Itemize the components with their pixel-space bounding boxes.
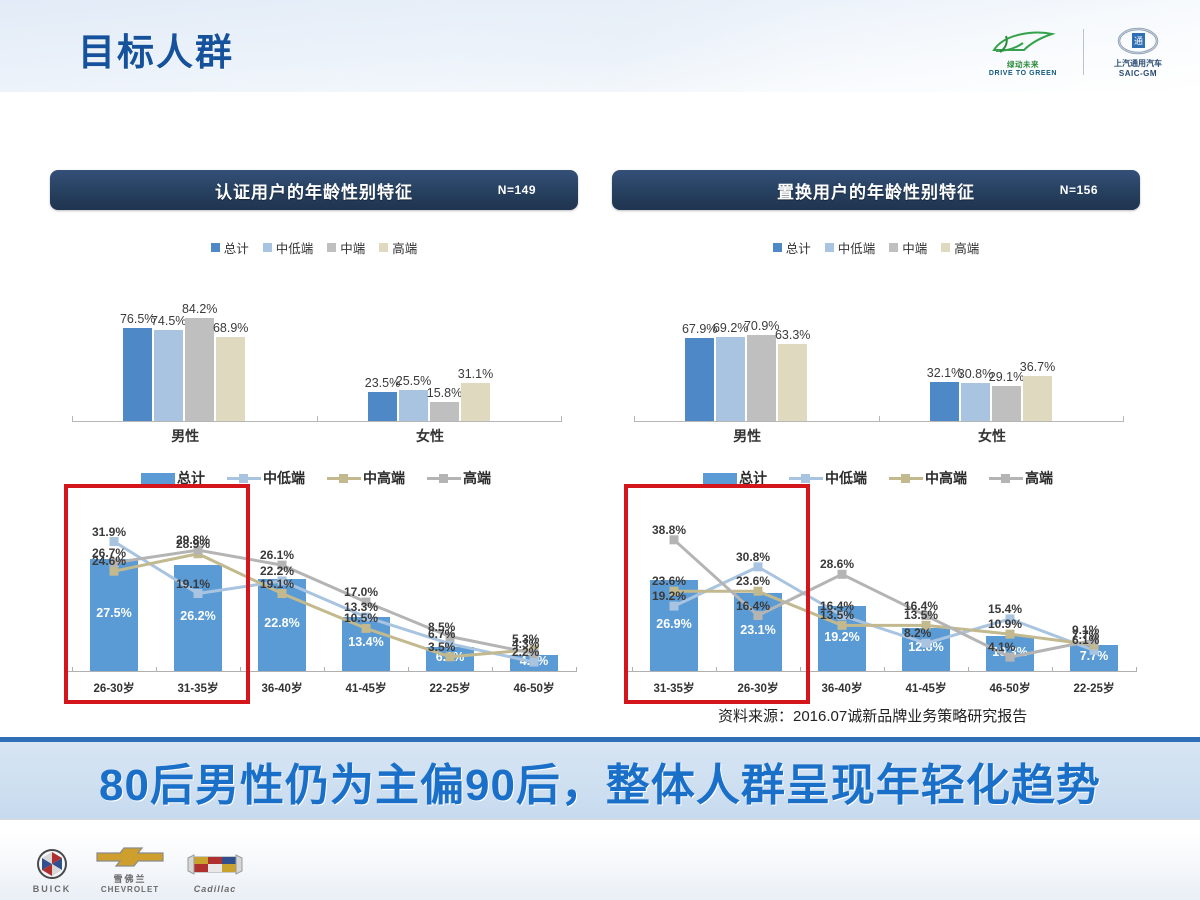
legend-label-mid: 中端 (340, 238, 365, 257)
svg-text:通: 通 (1134, 36, 1143, 47)
bar: 74.5% (154, 330, 183, 421)
legend-label-mid: 中端 (902, 238, 927, 257)
chart-trade-age: 26.9%31-35岁23.1%26-30岁19.2%36-40岁12.8%41… (620, 482, 1140, 702)
legend-swatch-total (773, 243, 782, 252)
legend-label-high: 高端 (392, 238, 417, 257)
slide-footer: BUICK 雪佛兰 CHEVROLET (0, 832, 1200, 900)
category-label: 男性 (103, 426, 267, 446)
legend-item-mid: 中端 (889, 238, 927, 257)
bar-value-label: 36.7% (1020, 360, 1055, 374)
chevrolet-cn: 雪佛兰 (113, 872, 146, 885)
chart-cert-gender: 76.5%74.5%84.2%68.9%男性23.5%25.5%15.8%31.… (62, 262, 572, 448)
line-value-label: 10.9% (988, 617, 1022, 631)
bar: 67.9% (685, 338, 714, 421)
source-note: 资料来源：2016.07诚新品牌业务策略研究报告 (718, 705, 1027, 726)
legend-swatch-midlow (825, 243, 834, 252)
panel-header-left: 认证用户的年龄性别特征 N=149 (50, 170, 578, 210)
line-value-label: 26.1% (260, 548, 294, 562)
buick-logo: BUICK (28, 848, 76, 894)
line-value-label: 3.5% (428, 640, 455, 654)
cadillac-wordmark: Cadillac (194, 884, 237, 894)
line-value-label: 17.0% (344, 585, 378, 599)
bar-group: 67.9%69.2%70.9%63.3% (685, 265, 809, 421)
drive-to-green-en: DRIVE TO GREEN (989, 70, 1057, 77)
slide-root: 目标人群 绿动未来 DRIVE TO GREEN 通 上 (0, 0, 1200, 900)
legend-item-mid: 中端 (327, 238, 365, 257)
drive-to-green-cn: 绿动未来 (1007, 59, 1039, 70)
green-leaf-car-icon (990, 28, 1056, 58)
legend-swatch-mid (327, 243, 336, 252)
line-value-label: 15.4% (988, 602, 1022, 616)
legend-item-total: 总计 (211, 238, 249, 257)
bar-value-label: 15.8% (427, 386, 462, 400)
chart-cert-age: 27.5%26-30岁26.2%31-35岁22.8%36-40岁13.4%41… (60, 482, 580, 702)
chart-trade-gender: 67.9%69.2%70.9%63.3%男性32.1%30.8%29.1%36.… (624, 262, 1134, 448)
footer-brand-logos: BUICK 雪佛兰 CHEVROLET (28, 844, 246, 894)
panel-left-n: N=149 (498, 183, 536, 197)
legend-label-total: 总计 (224, 238, 249, 257)
line-value-label: 4.1% (988, 640, 1015, 654)
highlight-box (624, 484, 810, 704)
line-value-label: 9.1% (1072, 623, 1099, 637)
chevrolet-bowtie-icon (94, 844, 166, 870)
bar: 76.5% (123, 328, 152, 421)
panel-header-right: 置换用户的年龄性别特征 N=156 (612, 170, 1140, 210)
legend-label-total: 总计 (786, 238, 811, 257)
bar-value-label: 63.3% (775, 328, 810, 342)
buick-shield-icon (28, 848, 76, 882)
bar: 29.1% (992, 386, 1021, 422)
bar: 69.2% (716, 337, 745, 421)
bar-group: 32.1%30.8%29.1%36.7% (930, 265, 1054, 421)
bar-group: 23.5%25.5%15.8%31.1% (368, 265, 492, 421)
legend-trade-gender: 总计 中低端 中端 高端 (612, 238, 1140, 257)
header-logos: 绿动未来 DRIVE TO GREEN 通 上汽通用汽车 SAIC-GM (977, 26, 1178, 78)
bar: 63.3% (778, 344, 807, 421)
panel-right-title: 置换用户的年龄性别特征 (777, 178, 975, 203)
chevrolet-en: CHEVROLET (101, 885, 159, 894)
legend-label-midlow: 中低端 (276, 238, 314, 257)
category-label: 女性 (910, 426, 1074, 446)
legend-item-midlow: 中低端 (825, 238, 876, 257)
key-message-banner: 80后男性仍为主偏90后，整体人群呈现年轻化趋势 (0, 742, 1200, 819)
legend-item-total: 总计 (773, 238, 811, 257)
bar: 36.7% (1023, 376, 1052, 421)
bar: 23.5% (368, 392, 397, 421)
cadillac-crest-icon (184, 852, 246, 882)
cadillac-logo: Cadillac (184, 852, 246, 894)
line-value-label: 4.3% (512, 637, 539, 651)
line-value-label: 10.5% (344, 611, 378, 625)
category-label: 男性 (665, 426, 829, 446)
legend-item-midlow: 中低端 (263, 238, 314, 257)
line-value-label: 28.6% (820, 557, 854, 571)
legend-item-high: 高端 (941, 238, 979, 257)
saic-gm-logo: 通 上汽通用汽车 SAIC-GM (1098, 26, 1178, 78)
legend-swatch-high (379, 243, 388, 252)
bar-value-label: 31.1% (458, 367, 493, 381)
category-label: 女性 (348, 426, 512, 446)
saic-gm-en: SAIC-GM (1119, 69, 1157, 78)
bar: 32.1% (930, 382, 959, 421)
page-title: 目标人群 (78, 22, 234, 76)
line-value-label: 8.2% (904, 626, 931, 640)
bar-group: 76.5%74.5%84.2%68.9% (123, 265, 247, 421)
bar: 30.8% (961, 383, 990, 421)
line-value-label: 19.1% (260, 577, 294, 591)
bar: 31.1% (461, 383, 490, 421)
legend-label-high: 高端 (954, 238, 979, 257)
legend-swatch-mid (889, 243, 898, 252)
legend-item-high: 高端 (379, 238, 417, 257)
legend-swatch-total (211, 243, 220, 252)
slide-header: 目标人群 绿动未来 DRIVE TO GREEN 通 上 (0, 0, 1200, 96)
legend-label-midlow: 中低端 (838, 238, 876, 257)
bar: 15.8% (430, 402, 459, 421)
panel-right-n: N=156 (1060, 183, 1098, 197)
chevrolet-logo: 雪佛兰 CHEVROLET (94, 844, 166, 894)
legend-cert-gender: 总计 中低端 中端 高端 (50, 238, 578, 257)
bar-value-label: 84.2% (182, 302, 217, 316)
bar: 70.9% (747, 335, 776, 421)
legend-swatch-midlow (263, 243, 272, 252)
saic-gm-emblem-icon: 通 (1117, 26, 1159, 56)
panel-left-title: 认证用户的年龄性别特征 (215, 178, 413, 203)
bar-value-label: 68.9% (213, 321, 248, 335)
logo-divider (1083, 29, 1084, 75)
bar: 68.9% (216, 337, 245, 421)
legend-swatch-high (941, 243, 950, 252)
bar: 25.5% (399, 390, 428, 421)
line-value-label: 16.4% (904, 599, 938, 613)
highlight-box (64, 484, 250, 704)
buick-wordmark: BUICK (33, 884, 72, 894)
banner-bottom-rule (0, 819, 1200, 820)
bar: 84.2% (185, 318, 214, 421)
line-value-label: 8.5% (428, 620, 455, 634)
line-value-label: 13.5% (820, 608, 854, 622)
saic-gm-cn: 上汽通用汽车 (1114, 58, 1162, 69)
key-message-text: 80后男性仍为主偏90后，整体人群呈现年轻化趋势 (99, 749, 1101, 813)
drive-to-green-logo: 绿动未来 DRIVE TO GREEN (977, 28, 1069, 77)
